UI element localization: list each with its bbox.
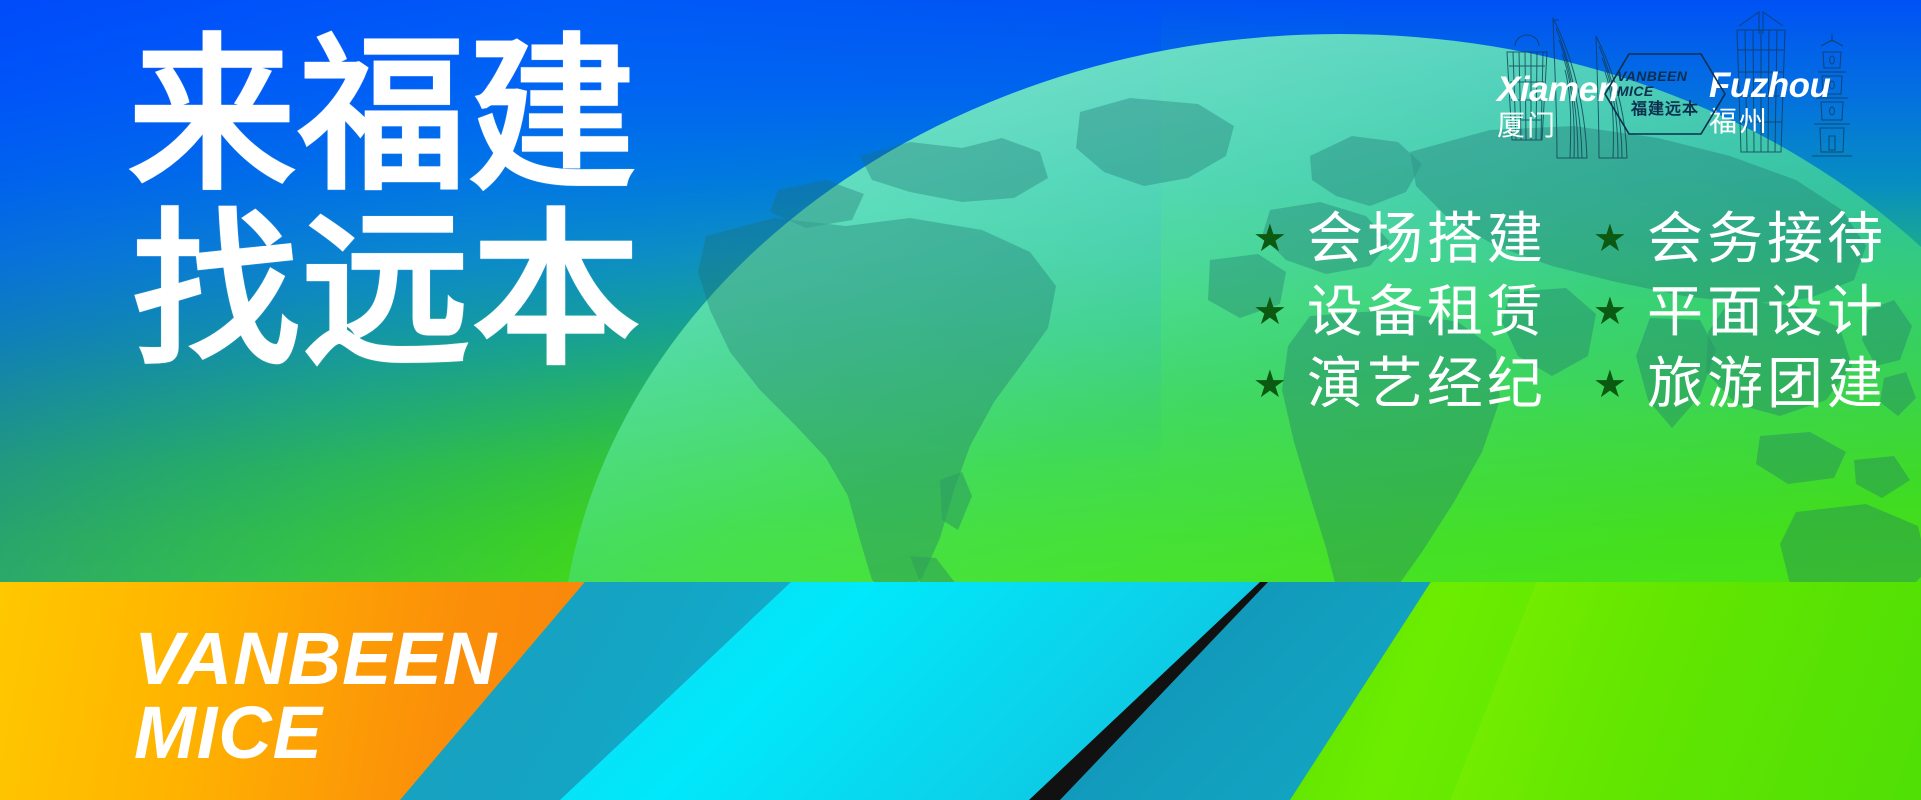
hex-logo-line-2: MICE — [1617, 84, 1654, 99]
city-label-xiamen: Xiamen 厦门 — [1497, 72, 1619, 140]
star-icon: ★ — [1593, 220, 1627, 258]
city-landmark-cluster: Xiamen 厦门 Fuzhou 福州 VANBEEN MICE 福建远本 — [1481, 0, 1921, 186]
city-label-fuzhou: Fuzhou 福州 — [1709, 68, 1830, 136]
star-icon: ★ — [1593, 293, 1627, 331]
promotional-banner: 来福建 找远本 ★ 会场搭建 ★ 会务接待 ★ 设备租赁 ★ 平面设计 ★ 演艺… — [0, 0, 1921, 800]
service-label: 会场搭建 — [1307, 208, 1547, 271]
service-label: 旅游团建 — [1647, 353, 1887, 416]
bottom-brand-bar: VANBEEN MICE — [0, 582, 1921, 800]
headline: 来福建 找远本 — [128, 34, 642, 373]
service-item-conference-reception: ★ 会务接待 — [1593, 208, 1887, 271]
city-name-en: Fuzhou — [1709, 68, 1830, 103]
service-label: 设备租赁 — [1307, 281, 1547, 344]
city-name-en: Xiamen — [1497, 72, 1619, 107]
brand-line-1: VANBEEN — [134, 624, 497, 694]
star-icon: ★ — [1593, 366, 1627, 404]
headline-line-2: 找远本 — [132, 209, 642, 374]
hex-logo-line-1: VANBEEN — [1617, 69, 1687, 84]
service-item-performance-agency: ★ 演艺经纪 — [1253, 353, 1547, 416]
service-item-tourism-teambuilding: ★ 旅游团建 — [1593, 353, 1887, 416]
headline-line-1: 来福建 — [128, 34, 642, 199]
service-item-hall-setup: ★ 会场搭建 — [1253, 208, 1547, 271]
star-icon: ★ — [1253, 220, 1287, 258]
service-list: ★ 会场搭建 ★ 会务接待 ★ 设备租赁 ★ 平面设计 ★ 演艺经纪 ★ 旅游团… — [1253, 208, 1887, 416]
service-label: 平面设计 — [1647, 281, 1887, 344]
brand-line-2: MICE — [134, 698, 497, 768]
city-name-cn: 厦门 — [1497, 112, 1619, 140]
city-name-cn: 福州 — [1709, 108, 1830, 136]
star-icon: ★ — [1253, 293, 1287, 331]
service-label: 会务接待 — [1647, 208, 1887, 271]
hex-logo-line-3: 福建远本 — [1631, 102, 1699, 119]
star-icon: ★ — [1253, 366, 1287, 404]
service-item-graphic-design: ★ 平面设计 — [1593, 281, 1887, 344]
brand-wordmark: VANBEEN MICE — [134, 624, 497, 767]
service-item-equipment-rental: ★ 设备租赁 — [1253, 281, 1547, 344]
service-label: 演艺经纪 — [1307, 353, 1547, 416]
hexagon-logo: VANBEEN MICE 福建远本 — [1603, 52, 1727, 136]
